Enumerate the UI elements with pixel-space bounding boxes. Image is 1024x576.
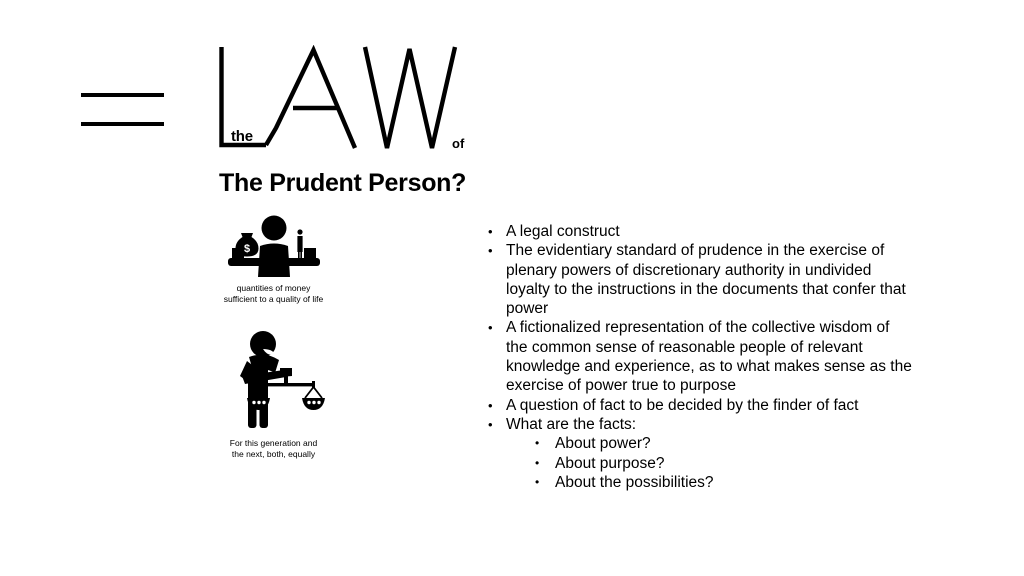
equals-bar-bottom bbox=[81, 122, 164, 126]
list-item: What are the facts: About power? About p… bbox=[484, 415, 914, 492]
bullet-text: A legal construct bbox=[506, 222, 914, 241]
icon-caption-scales: For this generation and the next, both, … bbox=[196, 438, 351, 461]
law-prefix-the: the bbox=[231, 129, 253, 144]
slide-canvas: the of The Prudent Person? bbox=[0, 0, 1024, 576]
caption-line-2: the next, both, equally bbox=[232, 449, 315, 459]
list-item: The evidentiary standard of prudence in … bbox=[484, 241, 914, 318]
sub-list-item: About the possibilities? bbox=[527, 473, 914, 492]
caption-line-2: sufficient to a quality of life bbox=[224, 294, 324, 304]
icon-caption-money-vs-life: quantities of money sufficient to a qual… bbox=[196, 283, 351, 306]
sub-bullet-text: About the possibilities? bbox=[555, 474, 714, 491]
bullet-list: A legal construct The evidentiary standa… bbox=[484, 222, 914, 492]
law-wordmark-icon bbox=[215, 45, 485, 157]
sub-bullet-text: About power? bbox=[555, 435, 651, 452]
equals-bar-top bbox=[81, 93, 164, 97]
law-suffix-of: of bbox=[452, 137, 464, 150]
caption-line-1: For this generation and bbox=[230, 438, 317, 448]
sub-list-item: About purpose? bbox=[527, 454, 914, 473]
bullet-text: The evidentiary standard of prudence in … bbox=[506, 241, 914, 318]
icon-block-scales: For this generation and the next, both, … bbox=[196, 330, 351, 461]
list-item: A fictionalized representation of the co… bbox=[484, 318, 914, 395]
icon-column: $ quantities of money sufficient to a qu… bbox=[196, 215, 351, 461]
sub-bullet-list: About power? About purpose? About the po… bbox=[506, 434, 914, 492]
bullet-list-panel: A legal construct The evidentiary standa… bbox=[484, 222, 914, 492]
bullet-text: A fictionalized representation of the co… bbox=[506, 318, 914, 395]
bullet-text: What are the facts: bbox=[506, 415, 914, 434]
person-balancing-money-and-life-icon: $ bbox=[196, 215, 351, 277]
sub-bullet-text: About purpose? bbox=[555, 455, 664, 472]
equals-sign-icon bbox=[81, 90, 164, 130]
svg-text:$: $ bbox=[243, 243, 249, 255]
bullet-text: A question of fact to be decided by the … bbox=[506, 396, 914, 415]
list-item: A question of fact to be decided by the … bbox=[484, 396, 914, 415]
caption-line-1: quantities of money bbox=[237, 283, 311, 293]
list-item: A legal construct bbox=[484, 222, 914, 241]
icon-block-money-vs-life: $ quantities of money sufficient to a qu… bbox=[196, 215, 351, 306]
person-holding-scales-of-justice-icon bbox=[196, 330, 351, 430]
page-title: The Prudent Person? bbox=[219, 170, 466, 198]
sub-list-item: About power? bbox=[527, 434, 914, 453]
